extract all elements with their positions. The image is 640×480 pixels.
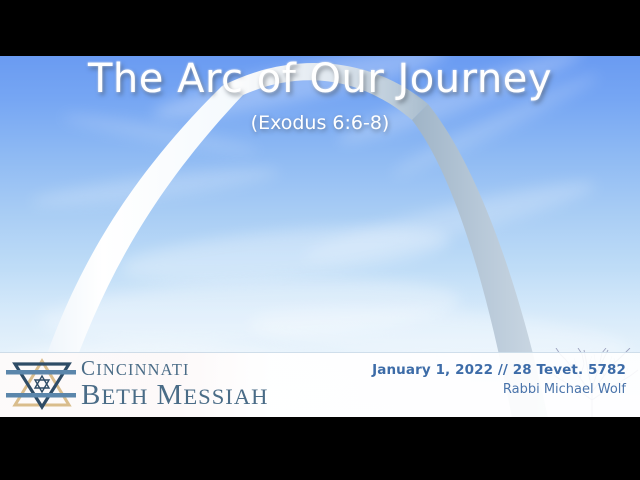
logo-line-beth-messiah: BETH MESSIAH (81, 381, 269, 410)
slide-meta: January 1, 2022 // 28 Tevet. 5782 Rabbi … (372, 360, 626, 400)
slide-date: January 1, 2022 // 28 Tevet. 5782 (372, 360, 626, 380)
video-slide: The Arc of Our Journey (Exodus 6:6-8) (0, 0, 640, 480)
congregation-logo: CINCINNATI BETH MESSIAH (6, 354, 269, 414)
lower-third-banner: CINCINNATI BETH MESSIAH January 1, 2022 … (0, 352, 640, 417)
logo-line-cincinnati: CINCINNATI (81, 358, 269, 379)
letterbox-bar-bottom (0, 417, 640, 480)
banner-divider (0, 352, 640, 353)
star-of-david-icon (6, 355, 78, 413)
letterbox-bar-top (0, 0, 640, 56)
slide-speaker: Rabbi Michael Wolf (372, 380, 626, 400)
logo-wordmark: CINCINNATI BETH MESSIAH (81, 358, 269, 410)
